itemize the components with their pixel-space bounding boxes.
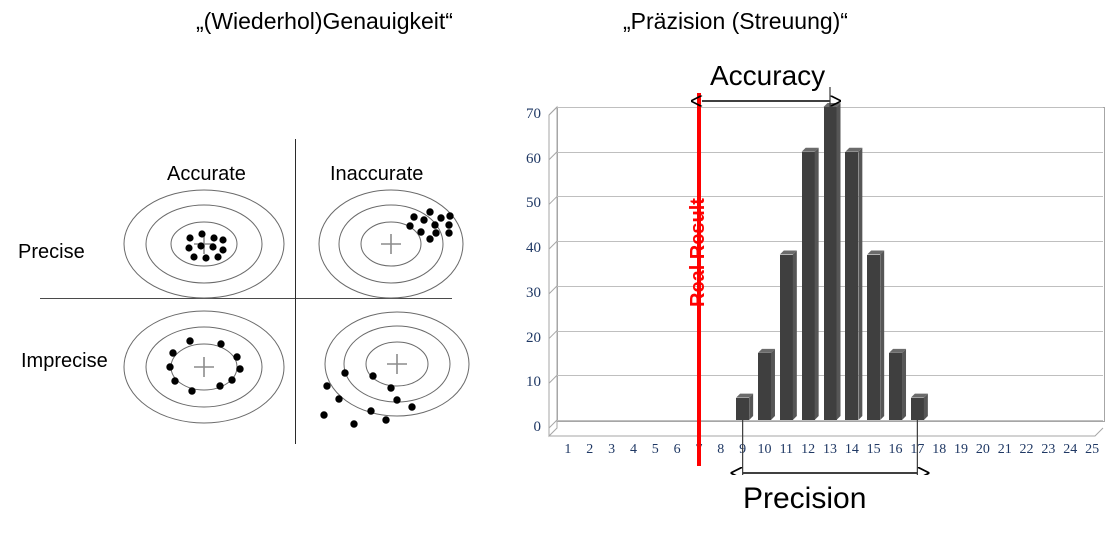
x-axis-tick-label: 15 xyxy=(863,442,885,458)
x-axis-tick-label: 10 xyxy=(753,442,775,458)
x-axis-tick-label: 6 xyxy=(666,442,688,458)
distribution-histogram-chart: Accuracy Precision 010203040506070 12345… xyxy=(495,55,1120,533)
shot-dots xyxy=(185,230,226,261)
plus-icon xyxy=(387,354,407,374)
x-axis-tick-label: 11 xyxy=(775,442,797,458)
x-axis-tick-label: 14 xyxy=(841,442,863,458)
x-axis-tick-label: 3 xyxy=(601,442,623,458)
shot-dots xyxy=(406,208,453,242)
target-inaccurate-precise xyxy=(318,188,468,300)
x-axis-tick-label: 2 xyxy=(579,442,601,458)
bar-3d-faces xyxy=(495,55,1120,475)
x-axis-tick-label: 25 xyxy=(1081,442,1103,458)
x-axis-tick-label: 13 xyxy=(819,442,841,458)
column-label-accurate: Accurate xyxy=(167,163,246,186)
x-axis-tick-label: 19 xyxy=(950,442,972,458)
x-axis-tick-label: 12 xyxy=(797,442,819,458)
target-accurate-imprecise xyxy=(122,308,287,426)
x-axis-tick-label: 23 xyxy=(1037,442,1059,458)
plus-icon xyxy=(194,357,214,377)
quadrant-vertical-divider xyxy=(295,139,296,444)
real-result-label: Real Result xyxy=(687,198,710,307)
x-axis-tick-label: 9 xyxy=(732,442,754,458)
accuracy-precision-target-diagram: Accurate Inaccurate Precise Imprecise xyxy=(0,60,480,480)
plot-area: 010203040506070 123456789101112131415161… xyxy=(495,55,1120,475)
row-label-precise: Precise xyxy=(18,241,85,264)
x-axis-tick-label: 4 xyxy=(622,442,644,458)
x-axis-tick-label: 22 xyxy=(1016,442,1038,458)
row-label-imprecise: Imprecise xyxy=(21,350,108,373)
x-axis-tick-label: 1 xyxy=(557,442,579,458)
x-axis-tick-label: 17 xyxy=(906,442,928,458)
left-section-title: „(Wiederhol)Genauigkeit“ xyxy=(196,8,453,35)
x-axis-tick-label: 21 xyxy=(994,442,1016,458)
target-accurate-precise xyxy=(122,188,287,300)
x-axis-tick-label: 24 xyxy=(1059,442,1081,458)
x-axis-tick-label: 20 xyxy=(972,442,994,458)
plus-icon xyxy=(381,234,401,254)
column-label-inaccurate: Inaccurate xyxy=(330,163,423,186)
shot-dots xyxy=(166,337,243,394)
x-axis-tick-label: 16 xyxy=(885,442,907,458)
right-section-title: „Präzision (Streuung)“ xyxy=(623,8,848,35)
x-axis-tick-label: 18 xyxy=(928,442,950,458)
target-inaccurate-imprecise xyxy=(305,308,475,436)
x-axis-tick-label: 5 xyxy=(644,442,666,458)
x-axis-tick-label: 8 xyxy=(710,442,732,458)
shot-dots xyxy=(320,369,415,427)
precision-annotation-label: Precision xyxy=(743,482,866,516)
